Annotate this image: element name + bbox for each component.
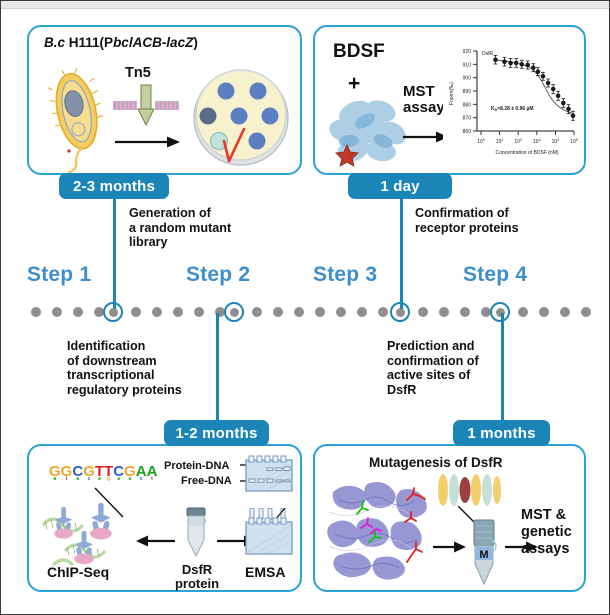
dsfr-protein-label: DsfR protein: [169, 563, 225, 591]
timeline-dot: [52, 307, 62, 317]
emsa-label: EMSA: [245, 564, 285, 580]
timeline-dot: [173, 307, 183, 317]
mst-binding-chart: 860 870 880 890 900 910 920 Fnorm(‰) Dsf…: [443, 39, 583, 164]
gel-top-illustration: [245, 454, 293, 494]
sequence-logo: G a G t C a G c T a T g: [49, 455, 157, 481]
svg-text:DsfR: DsfR: [482, 51, 494, 57]
seqlogo-column: T g: [104, 466, 113, 481]
svg-text:Concentration of BDSF (nM): Concentration of BDSF (nM): [495, 150, 558, 156]
seqlogo-minor: c: [140, 477, 143, 481]
seqlogo-column: G c: [83, 466, 95, 481]
dsfr-protein-line2: protein: [169, 577, 225, 591]
step3-desc-line-2: receptor proteins: [415, 221, 580, 236]
step-1-label: Step 1: [27, 263, 91, 287]
seqlogo-column: T a: [95, 466, 104, 481]
seqlogo-column: G t: [61, 466, 73, 481]
timeline-dot: [73, 307, 83, 317]
step-4-label: Step 4: [463, 263, 527, 287]
gel-label-protein-dna: Protein-DNA: [164, 460, 229, 472]
panel-bottom-right-title: Mutagenesis of DsfR: [369, 455, 503, 470]
badge-step4-duration: 1 months: [453, 420, 550, 446]
seqlogo-minor: a: [117, 477, 120, 481]
tn5-label: Tn5: [125, 65, 151, 81]
timeline-dot: [518, 307, 528, 317]
step4-desc-line-1: Prediction and: [387, 339, 537, 354]
step4-desc-line-2: confirmation of: [387, 354, 537, 369]
petri-dish-illustration: [189, 65, 293, 169]
protein-blob-illustration: [325, 97, 411, 169]
seqlogo-minor: a: [128, 477, 131, 481]
timeline-dot: [152, 307, 162, 317]
step1-desc-line-2: a random mutant: [129, 221, 279, 236]
emsa-gel-illustration: [245, 508, 293, 560]
connector-step2: [216, 313, 219, 431]
timeline-dot: [252, 307, 262, 317]
step-3-label: Step 3: [313, 263, 377, 287]
mst-assay-label: MST assay: [403, 84, 445, 116]
seqlogo-minor: a: [98, 477, 101, 481]
arrow-to-chipseq: [136, 534, 176, 548]
badge-step3-duration: 1 day: [348, 173, 452, 199]
protein-structure-illustration: [327, 476, 439, 581]
mst-genetic-assays-label: MST & genetic assays: [521, 507, 572, 558]
seqlogo-column: A t: [147, 466, 158, 481]
svg-text:920: 920: [463, 49, 472, 55]
step2-desc-line-2: of downstream: [67, 354, 217, 369]
seqlogo-minor: t: [66, 477, 68, 481]
step4-desc-line-3: active sites of: [387, 368, 537, 383]
timeline-dot: [273, 307, 283, 317]
chipseq-label: ChIP-Seq: [47, 564, 109, 580]
assays-line2: genetic: [521, 524, 572, 541]
timeline-dot: [194, 307, 204, 317]
transposon-illustration: [111, 83, 183, 133]
timeline-dot: [560, 307, 570, 317]
connector-step1: [113, 191, 116, 309]
step2-desc-line-4: regulatory proteins: [67, 383, 217, 398]
timeline-dot: [460, 307, 470, 317]
svg-text:890: 890: [463, 89, 472, 95]
figure-canvas: B.c H111(PbclACB-lacZ): [0, 0, 610, 615]
timeline-dot: [539, 307, 549, 317]
svg-text:910: 910: [463, 62, 472, 68]
panel-bottom-left: G a G t C a G c T a T g: [27, 444, 302, 592]
seqlogo-column: A c: [136, 466, 147, 481]
step2-desc-line-1: Identification: [67, 339, 217, 354]
svg-text:900: 900: [463, 76, 472, 82]
panel-top-left: B.c H111(PbclACB-lacZ): [27, 25, 302, 175]
svg-text:860: 860: [463, 129, 472, 135]
dsfr-tube-illustration: [181, 506, 211, 561]
bdsf-label: BDSF: [333, 41, 385, 63]
gel-label-free-dna: Free-DNA: [181, 475, 232, 487]
arrow-to-plate: [115, 135, 181, 149]
timeline-dot: [357, 307, 367, 317]
panel-bottom-right: Mutagenesis of DsfR: [313, 444, 586, 592]
step4-desc-line-4: DsfR: [387, 383, 537, 398]
step1-desc-line-3: library: [129, 235, 279, 250]
seqlogo-column: C a: [113, 466, 124, 481]
svg-text:Fnorm(‰): Fnorm(‰): [449, 82, 455, 105]
panel-top-right: BDSF + MST assay: [313, 25, 586, 175]
timeline-dot: [439, 307, 449, 317]
seqlogo-column: G a: [49, 466, 61, 481]
seqlogo-column: C a: [72, 466, 83, 481]
mst-assay-line1: MST: [403, 84, 445, 100]
timeline-node-step2[interactable]: [224, 302, 244, 322]
step4-description: Prediction and confirmation of active si…: [387, 339, 537, 397]
timeline-dot: [581, 307, 591, 317]
timeline-dot: [418, 307, 428, 317]
step1-desc-line-1: Generation of: [129, 206, 279, 221]
timeline-dot: [378, 307, 388, 317]
mutant-tube-illustration: M: [467, 518, 501, 588]
title-close-paren: ): [193, 35, 198, 50]
badge-step2-duration: 1-2 months: [164, 420, 269, 446]
seqlogo-minor: t: [151, 477, 153, 481]
seqlogo-minor: a: [53, 477, 56, 481]
timeline-dot: [336, 307, 346, 317]
connector-step4: [501, 313, 504, 431]
title-promoter: bclACB-lacZ: [113, 35, 193, 50]
step3-description: Confirmation of receptor proteins: [415, 206, 580, 235]
arrow-to-mutant-tube: [433, 540, 467, 554]
seqlogo-column: G a: [124, 466, 136, 481]
connector-step3: [400, 191, 403, 309]
seqlogo-minor: g: [107, 477, 110, 481]
timeline-dot: [131, 307, 141, 317]
step2-desc-line-3: transcriptional: [67, 368, 217, 383]
dna-helix-illustration: [435, 472, 501, 508]
panel-top-left-title: B.c H111(PbclACB-lacZ): [44, 35, 198, 50]
assays-line3: assays: [521, 541, 572, 558]
step1-description: Generation of a random mutant library: [129, 206, 279, 250]
svg-text:870: 870: [463, 116, 472, 122]
title-strain: H111(P: [65, 35, 113, 50]
mst-assay-line2: assay: [403, 100, 445, 116]
seqlogo-minor: a: [76, 477, 79, 481]
timeline-dot: [315, 307, 325, 317]
step3-desc-line-1: Confirmation of: [415, 206, 580, 221]
dsfr-protein-line1: DsfR: [169, 563, 225, 577]
title-species: B.c: [44, 35, 65, 50]
step-2-label: Step 2: [186, 263, 250, 287]
svg-text:KD=8.28 ± 0.96 µM: KD=8.28 ± 0.96 µM: [491, 106, 534, 112]
timeline-node-step4[interactable]: [490, 302, 510, 322]
plus-sign: +: [348, 72, 360, 96]
bacterium-illustration: [43, 63, 113, 173]
svg-text:880: 880: [463, 102, 472, 108]
mutant-tube-letter: M: [479, 549, 488, 561]
timeline-dot: [31, 307, 41, 317]
step2-description: Identification of downstream transcripti…: [67, 339, 217, 397]
seqlogo-minor: c: [88, 477, 91, 481]
badge-step1-duration: 2-3 months: [59, 173, 169, 199]
timeline-dot: [294, 307, 304, 317]
assays-line1: MST &: [521, 507, 572, 524]
window-top-strip: [1, 1, 610, 9]
